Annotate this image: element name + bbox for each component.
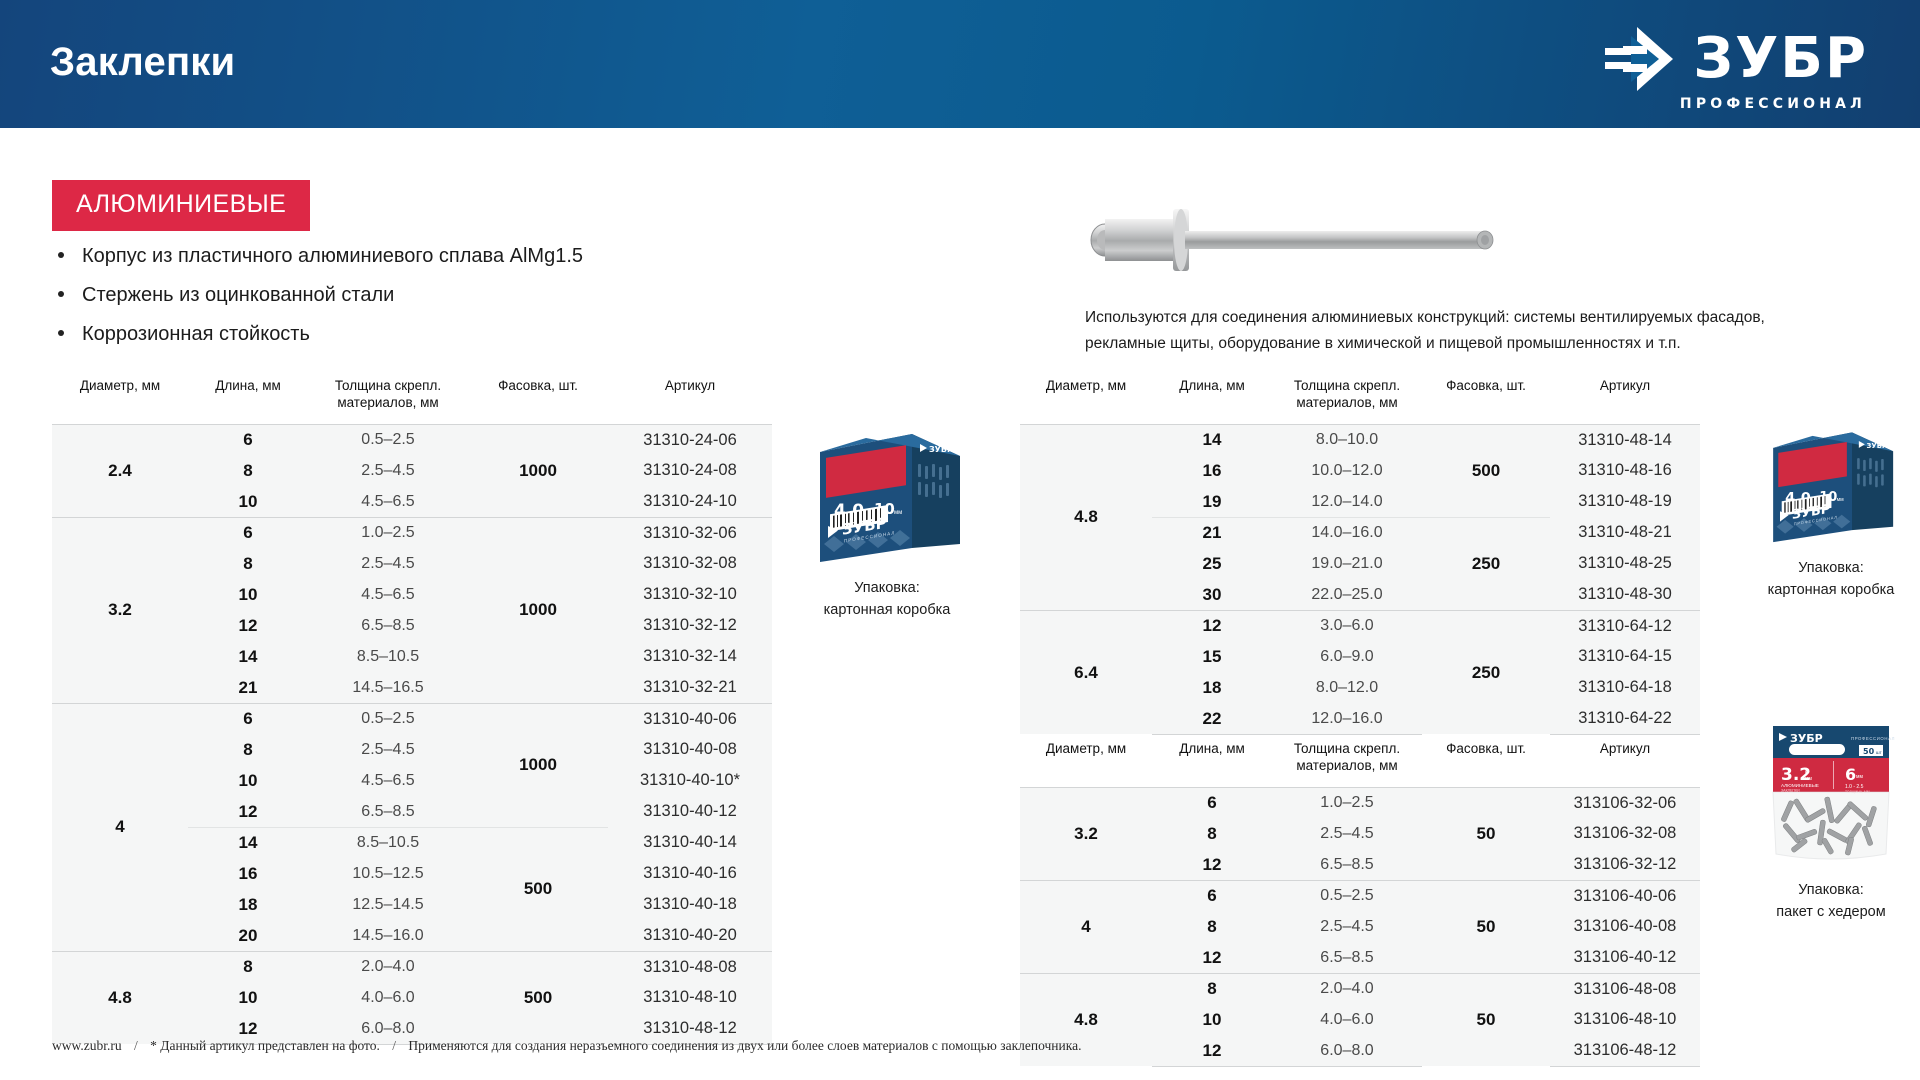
cell-length: 21 [188, 672, 308, 703]
feature-text: Коррозионная стойкость [82, 323, 310, 346]
cell-diameter: 4 [1020, 880, 1152, 973]
page-header: Заклепки ЗУБР ПРОФЕССИОНАЛ [0, 0, 1920, 128]
cell-article: 313106-32-12 [1550, 849, 1700, 880]
brand-logo: ЗУБР ПРОФЕССИОНАЛ [1601, 26, 1868, 112]
cell-length: 8 [188, 734, 308, 765]
cell-thickness: 2.5–4.5 [308, 455, 468, 486]
cell-length: 10 [1152, 1004, 1272, 1035]
packaging-caption-line2: картонная коробка [1742, 580, 1920, 602]
footer-separator: / [134, 1038, 138, 1053]
col-header-packing: Фасовка, шт. [1422, 735, 1550, 787]
cell-article: 31310-24-10 [608, 486, 772, 517]
cell-thickness: 2.5–4.5 [1272, 911, 1422, 942]
cell-thickness: 8.5–10.5 [308, 641, 468, 672]
cell-article: 313106-32-08 [1550, 818, 1700, 849]
cell-thickness: 8.0–10.0 [1272, 424, 1422, 455]
cell-article: 31310-40-08 [608, 734, 772, 765]
table-row: 460.5–2.550313106-40-06 [1020, 880, 1700, 911]
table-row: 4.8148.0–10.050031310-48-14 [1020, 424, 1700, 455]
cell-length: 20 [188, 920, 308, 951]
cell-length: 12 [188, 610, 308, 641]
cell-article: 313106-48-10 [1550, 1004, 1700, 1035]
cell-thickness: 14.5–16.0 [308, 920, 468, 951]
cell-article: 31310-64-22 [1550, 703, 1700, 734]
cell-thickness: 4.5–6.5 [308, 579, 468, 610]
cell-article: 313106-48-12 [1550, 1035, 1700, 1066]
col-header-article: Артикул [1550, 372, 1700, 424]
cell-thickness: 2.5–4.5 [1272, 818, 1422, 849]
cell-thickness: 0.5–2.5 [1272, 880, 1422, 911]
cell-length: 14 [1152, 424, 1272, 455]
cell-article: 31310-40-12 [608, 796, 772, 827]
cell-length: 6 [188, 424, 308, 455]
cell-thickness: 12.5–14.5 [308, 889, 468, 920]
catalog-page: Заклепки ЗУБР ПРОФЕССИОНАЛ АЛЮМИНИЕВЫЕ К… [0, 0, 1920, 1080]
cell-length: 8 [1152, 911, 1272, 942]
cell-thickness: 0.5–2.5 [308, 424, 468, 455]
cell-article: 31310-64-15 [1550, 641, 1700, 672]
table-row: 2.460.5–2.5100031310-24-06 [52, 424, 772, 455]
cell-length: 12 [1152, 942, 1272, 973]
svg-text:шт: шт [1876, 750, 1882, 755]
cell-diameter: 3.2 [52, 517, 188, 703]
cell-thickness: 2.0–4.0 [308, 951, 468, 982]
cell-diameter: 4.8 [52, 951, 188, 1044]
cell-article: 31310-48-10 [608, 982, 772, 1013]
cell-length: 16 [1152, 455, 1272, 486]
svg-text:ЗУБР: ЗУБР [1790, 732, 1823, 745]
packaging-caption-line2: картонная коробка [772, 600, 1002, 622]
cell-article: 31310-40-20 [608, 920, 772, 951]
footer-separator: / [392, 1038, 396, 1053]
cell-length: 30 [1152, 579, 1272, 610]
cell-length: 22 [1152, 703, 1272, 734]
cell-packing: 500 [468, 827, 608, 951]
col-header-packing: Фасовка, шт. [1422, 372, 1550, 424]
feature-text: Стержень из оцинкованной стали [82, 284, 394, 307]
rivet-table-right-a: Диаметр, ммДлина, ммТолщина скрепл.матер… [1020, 372, 1700, 735]
col-header-length: Длина, мм [1152, 372, 1272, 424]
cell-article: 313106-48-08 [1550, 973, 1700, 1004]
cell-thickness: 8.0–12.0 [1272, 672, 1422, 703]
brand-name: ЗУБР [1693, 32, 1868, 85]
cell-article: 31310-32-08 [608, 548, 772, 579]
cell-thickness: 6.5–8.5 [308, 610, 468, 641]
zubr-arrow-diamond-icon [1601, 26, 1677, 92]
cell-article: 31310-40-16 [608, 858, 772, 889]
category-badge: АЛЮМИНИЕВЫЕ [52, 180, 310, 231]
footer-note-use: Применяются для создания неразъемного со… [408, 1038, 1081, 1053]
cell-diameter: 6.4 [1020, 610, 1152, 734]
cell-length: 6 [1152, 880, 1272, 911]
packaging-block: ЗУБР ПРОФЕССИОНАЛ 50 шт 3.2 Ø мм АЛЮМИНИ… [1742, 718, 1920, 924]
cell-diameter: 4 [52, 703, 188, 951]
cell-thickness: 14.5–16.5 [308, 672, 468, 703]
cell-length: 25 [1152, 548, 1272, 579]
cell-thickness: 10.0–12.0 [1272, 455, 1422, 486]
packaging-block: 4.0 мм 10 мм ЗУБР ПРОФЕССИОНАЛ [1742, 418, 1920, 602]
col-header-diameter: Диаметр, мм [52, 372, 188, 424]
col-header-thickness: Толщина скрепл.материалов, мм [308, 372, 468, 424]
packaging-caption-line1: Упаковка: [1742, 880, 1920, 902]
cell-length: 12 [1152, 1035, 1272, 1066]
bullet-dot-icon [58, 330, 64, 336]
cell-thickness: 22.0–25.0 [1272, 579, 1422, 610]
cell-article: 31310-32-06 [608, 517, 772, 548]
cell-thickness: 2.0–4.0 [1272, 973, 1422, 1004]
col-header-diameter: Диаметр, мм [1020, 372, 1152, 424]
table-row: 3.261.0–2.550313106-32-06 [1020, 787, 1700, 818]
cell-length: 8 [1152, 973, 1272, 1004]
cell-article: 313106-40-08 [1550, 911, 1700, 942]
cell-thickness: 2.5–4.5 [308, 734, 468, 765]
cell-packing: 50 [1422, 973, 1550, 1066]
packaging-caption: Упаковка: пакет с хедером [1742, 880, 1920, 924]
carton-box-photo: 4.0 мм 10 мм ЗУБР ПРОФЕССИОНАЛ [1756, 418, 1906, 548]
cell-length: 12 [188, 796, 308, 827]
cell-thickness: 6.5–8.5 [308, 796, 468, 827]
svg-text:мм: мм [1856, 774, 1863, 780]
svg-text:ЗУБР: ЗУБР [1867, 442, 1887, 450]
cell-article: 31310-48-21 [1550, 517, 1700, 548]
packaging-block: 4.0 мм 10 мм ЗУБР ПРОФЕССИОНАЛ [772, 418, 1002, 622]
cell-length: 10 [188, 579, 308, 610]
cell-thickness: 4.5–6.5 [308, 486, 468, 517]
cell-length: 10 [188, 982, 308, 1013]
cell-length: 6 [188, 517, 308, 548]
cell-length: 18 [188, 889, 308, 920]
cell-article: 31310-40-06 [608, 703, 772, 734]
cell-thickness: 12.0–14.0 [1272, 486, 1422, 517]
table-row: 6.4123.0–6.025031310-64-12 [1020, 610, 1700, 641]
cell-length: 10 [188, 765, 308, 796]
col-header-article: Артикул [608, 372, 772, 424]
header-bag-photo: ЗУБР ПРОФЕССИОНАЛ 50 шт 3.2 Ø мм АЛЮМИНИ… [1755, 718, 1907, 870]
bullet-dot-icon [58, 252, 64, 258]
cell-length: 8 [188, 548, 308, 579]
cell-thickness: 4.0–6.0 [308, 982, 468, 1013]
cell-article: 31310-40-10* [608, 765, 772, 796]
cell-article: 31310-48-16 [1550, 455, 1700, 486]
packaging-caption: Упаковка: картонная коробка [1742, 558, 1920, 602]
svg-text:мм: мм [894, 510, 902, 516]
cell-length: 14 [188, 641, 308, 672]
cell-article: 31310-64-18 [1550, 672, 1700, 703]
table-row: 4.882.0–4.050313106-48-08 [1020, 973, 1700, 1004]
cell-thickness: 12.0–16.0 [1272, 703, 1422, 734]
col-header-diameter: Диаметр, мм [1020, 735, 1152, 787]
cell-thickness: 6.0–8.0 [1272, 1035, 1422, 1066]
feature-text: Корпус из пластичного алюминиевого сплав… [82, 245, 583, 268]
cell-length: 6 [1152, 787, 1272, 818]
cell-packing: 250 [1422, 610, 1550, 734]
col-header-article: Артикул [1550, 735, 1700, 787]
rivet-table-right-b: Диаметр, ммДлина, ммТолщина скрепл.матер… [1020, 735, 1700, 1067]
cell-article: 31310-48-14 [1550, 424, 1700, 455]
cell-thickness: 4.5–6.5 [308, 765, 468, 796]
cell-thickness: 6.0–9.0 [1272, 641, 1422, 672]
col-header-length: Длина, мм [1152, 735, 1272, 787]
table-row: 4.882.0–4.050031310-48-08 [52, 951, 772, 982]
footer-site[interactable]: www.zubr.ru [52, 1038, 122, 1053]
cell-packing: 500 [1422, 424, 1550, 517]
cell-packing: 250 [1422, 517, 1550, 610]
packaging-caption-line1: Упаковка: [772, 578, 1002, 600]
table-row: 3.261.0–2.5100031310-32-06 [52, 517, 772, 548]
cell-thickness: 0.5–2.5 [308, 703, 468, 734]
carton-box-photo: 4.0 мм 10 мм ЗУБР ПРОФЕССИОНАЛ [800, 418, 975, 568]
cell-diameter: 3.2 [1020, 787, 1152, 880]
cell-thickness: 19.0–21.0 [1272, 548, 1422, 579]
cell-article: 31310-48-25 [1550, 548, 1700, 579]
cell-article: 313106-40-12 [1550, 942, 1700, 973]
cell-packing: 1000 [468, 703, 608, 827]
cell-packing: 50 [1422, 787, 1550, 880]
cell-article: 313106-32-06 [1550, 787, 1700, 818]
list-item: Корпус из пластичного алюминиевого сплав… [58, 245, 758, 268]
footer-note-star: * Данный артикул представлен на фото. [150, 1038, 380, 1053]
page-title: Заклепки [50, 40, 235, 85]
aluminum-rivet-photo [1085, 195, 1625, 285]
list-item: Стержень из оцинкованной стали [58, 284, 758, 307]
svg-text:ЗУБР: ЗУБР [929, 445, 953, 454]
svg-text:мм: мм [1805, 776, 1812, 782]
cell-length: 10 [188, 486, 308, 517]
cell-thickness: 2.5–4.5 [308, 548, 468, 579]
cell-diameter: 4.8 [1020, 424, 1152, 610]
cell-length: 8 [188, 951, 308, 982]
cell-length: 14 [188, 827, 308, 858]
cell-thickness: 6.5–8.5 [1272, 849, 1422, 880]
col-header-packing: Фасовка, шт. [468, 372, 608, 424]
cell-thickness: 3.0–6.0 [1272, 610, 1422, 641]
cell-length: 12 [1152, 610, 1272, 641]
packaging-caption-line1: Упаковка: [1742, 558, 1920, 580]
cell-thickness: 6.5–8.5 [1272, 942, 1422, 973]
cell-article: 31310-40-18 [608, 889, 772, 920]
cell-thickness: 8.5–10.5 [308, 827, 468, 858]
list-item: Коррозионная стойкость [58, 323, 758, 346]
cell-length: 19 [1152, 486, 1272, 517]
svg-text:6: 6 [1845, 765, 1856, 784]
cell-article: 31310-32-21 [608, 672, 772, 703]
cell-article: 31310-40-14 [608, 827, 772, 858]
cell-thickness: 4.0–6.0 [1272, 1004, 1422, 1035]
cell-packing: 50 [1422, 880, 1550, 973]
cell-article: 31310-24-06 [608, 424, 772, 455]
page-footer: www.zubr.ru / * Данный артикул представл… [52, 1038, 1081, 1054]
svg-text:50: 50 [1863, 747, 1875, 756]
cell-length: 6 [188, 703, 308, 734]
product-description: Используются для соединения алюминиевых … [1085, 305, 1825, 356]
cell-article: 31310-32-10 [608, 579, 772, 610]
brand-subtitle: ПРОФЕССИОНАЛ [1680, 96, 1866, 112]
cell-length: 21 [1152, 517, 1272, 548]
cell-length: 16 [188, 858, 308, 889]
cell-article: 31310-48-30 [1550, 579, 1700, 610]
cell-length: 8 [188, 455, 308, 486]
packaging-caption: Упаковка: картонная коробка [772, 578, 1002, 622]
cell-thickness: 14.0–16.0 [1272, 517, 1422, 548]
cell-length: 12 [1152, 849, 1272, 880]
cell-packing: 1000 [468, 424, 608, 517]
packaging-caption-line2: пакет с хедером [1742, 902, 1920, 924]
cell-diameter: 2.4 [52, 424, 188, 517]
cell-article: 31310-64-12 [1550, 610, 1700, 641]
cell-article: 313106-40-06 [1550, 880, 1700, 911]
cell-article: 31310-48-19 [1550, 486, 1700, 517]
cell-article: 31310-48-08 [608, 951, 772, 982]
cell-article: 31310-24-08 [608, 455, 772, 486]
svg-text:АЛЮМИНИЕВЫЕ: АЛЮМИНИЕВЫЕ [1781, 783, 1819, 788]
bullet-dot-icon [58, 291, 64, 297]
cell-thickness: 1.0–2.5 [1272, 787, 1422, 818]
cell-packing: 500 [468, 951, 608, 1044]
feature-list: Корпус из пластичного алюминиевого сплав… [58, 245, 758, 362]
cell-length: 8 [1152, 818, 1272, 849]
svg-text:мм: мм [1837, 497, 1845, 503]
cell-article: 31310-32-12 [608, 610, 772, 641]
cell-article: 31310-32-14 [608, 641, 772, 672]
col-header-thickness: Толщина скрепл.материалов, мм [1272, 372, 1422, 424]
cell-length: 15 [1152, 641, 1272, 672]
cell-thickness: 1.0–2.5 [308, 517, 468, 548]
col-header-length: Длина, мм [188, 372, 308, 424]
col-header-thickness: Толщина скрепл.материалов, мм [1272, 735, 1422, 787]
svg-text:ПРОФЕССИОНАЛ: ПРОФЕССИОНАЛ [1851, 736, 1895, 741]
cell-length: 18 [1152, 672, 1272, 703]
cell-packing: 1000 [468, 517, 608, 703]
table-row: 460.5–2.5100031310-40-06 [52, 703, 772, 734]
rivet-table-left: Диаметр, ммДлина, ммТолщина скрепл.матер… [52, 372, 772, 1045]
cell-thickness: 10.5–12.5 [308, 858, 468, 889]
